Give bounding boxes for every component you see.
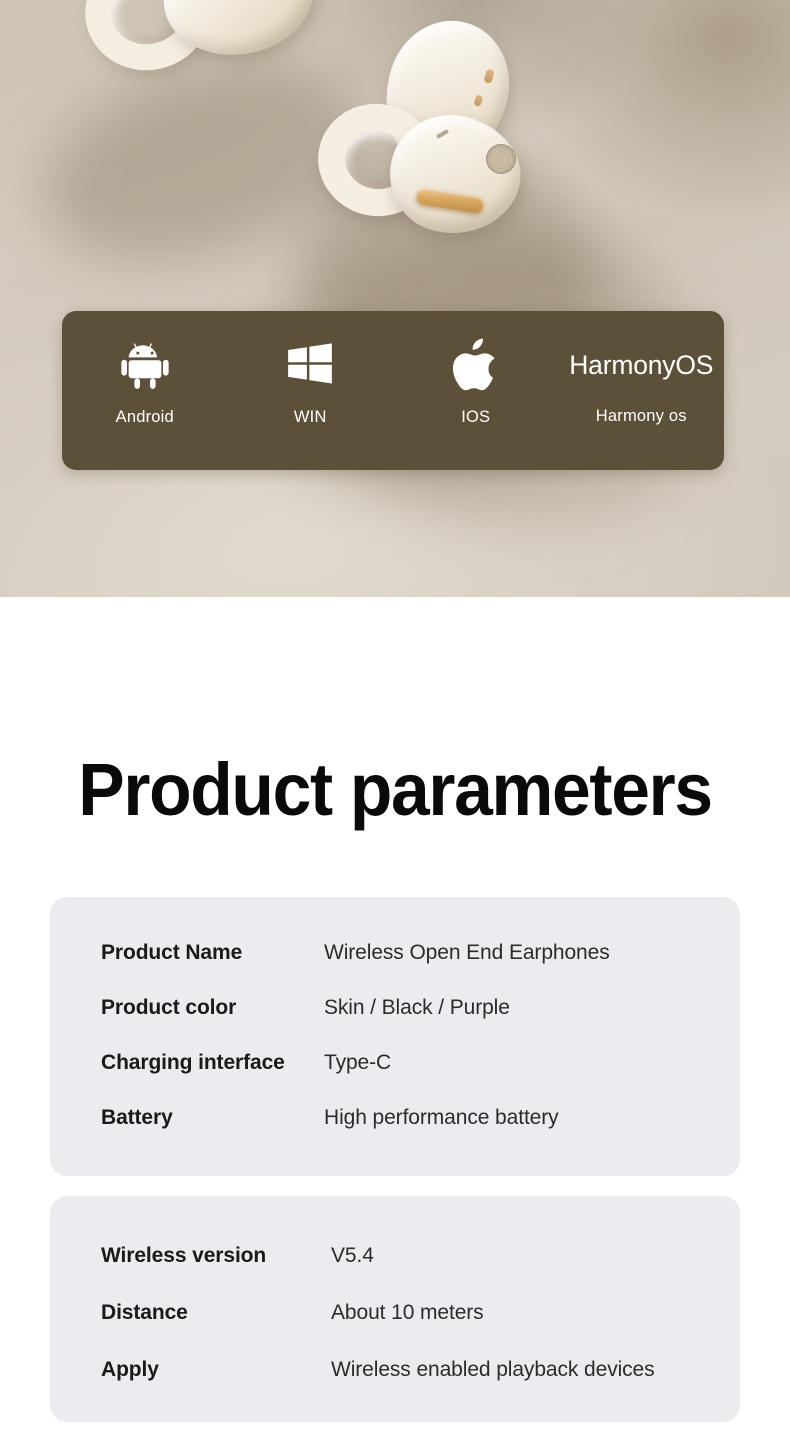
spec-value: About 10 meters: [331, 1301, 484, 1325]
spec-value: Skin / Black / Purple: [324, 996, 510, 1020]
compatibility-bar: Android WIN: [62, 311, 724, 470]
compatibility-label: IOS: [461, 408, 490, 427]
earbud-secondary: [85, 0, 315, 116]
table-row: Battery High performance battery: [50, 1106, 740, 1130]
gold-accent: [474, 94, 484, 107]
spec-value: Wireless enabled playback devices: [331, 1358, 655, 1382]
compatibility-list: Android WIN: [62, 311, 724, 470]
spec-value: High performance battery: [324, 1106, 559, 1130]
compatibility-item-android: Android: [62, 338, 228, 427]
spec-label: Product Name: [101, 941, 324, 965]
table-row: Apply Wireless enabled playback devices: [50, 1358, 740, 1382]
spec-label: Battery: [101, 1106, 324, 1130]
spec-label: Wireless version: [101, 1244, 331, 1268]
windows-icon: [285, 338, 335, 392]
earbud-primary: [318, 20, 568, 280]
compatibility-item-harmonyos: HarmonyOS Harmony os: [559, 338, 725, 426]
android-icon: [119, 338, 171, 392]
table-row: Charging interface Type-C: [50, 1051, 740, 1075]
apple-icon: [452, 338, 500, 392]
spec-card-secondary: Wireless version V5.4 Distance About 10 …: [50, 1196, 740, 1422]
compatibility-item-ios: IOS: [393, 338, 559, 427]
table-row: Product color Skin / Black / Purple: [50, 996, 740, 1020]
table-row: Wireless version V5.4: [50, 1244, 740, 1268]
spec-label: Charging interface: [101, 1051, 324, 1075]
compatibility-item-windows: WIN: [228, 338, 394, 427]
gold-accent: [483, 68, 495, 84]
harmonyos-icon: HarmonyOS: [569, 338, 713, 392]
spec-label: Product color: [101, 996, 324, 1020]
spec-card-primary: Product Name Wireless Open End Earphones…: [50, 897, 740, 1176]
spec-value: Wireless Open End Earphones: [324, 941, 610, 965]
product-parameters-section: Product parameters Product Name Wireless…: [0, 597, 790, 1422]
compatibility-label: WIN: [294, 408, 327, 427]
page-title: Product parameters: [24, 597, 767, 827]
spec-value: Type-C: [324, 1051, 391, 1075]
spec-label: Apply: [101, 1358, 331, 1382]
compatibility-label: Android: [116, 408, 174, 427]
compatibility-label: Harmony os: [596, 407, 687, 426]
hero-product-photo: Android WIN: [0, 0, 790, 597]
spec-value: V5.4: [331, 1244, 374, 1268]
harmonyos-wordmark: HarmonyOS: [569, 350, 713, 381]
product-detail-page: Android WIN: [0, 0, 790, 1433]
table-row: Distance About 10 meters: [50, 1301, 740, 1325]
table-row: Product Name Wireless Open End Earphones: [50, 941, 740, 965]
spec-label: Distance: [101, 1301, 331, 1325]
